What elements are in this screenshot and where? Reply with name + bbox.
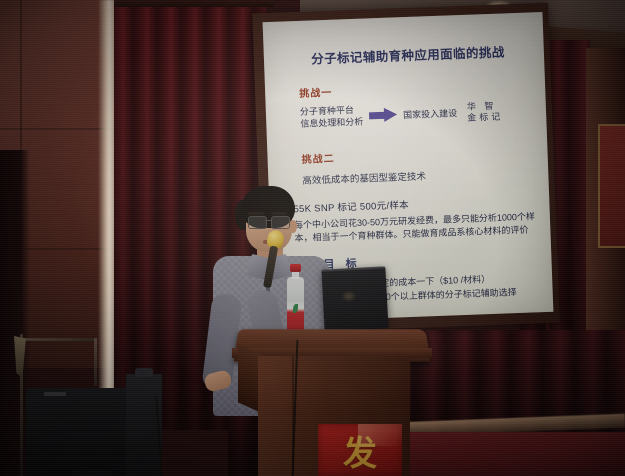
bottle-cap xyxy=(290,264,301,272)
eyeglasses-icon xyxy=(247,216,291,227)
placard-glare xyxy=(358,424,402,446)
speaker-top-unit xyxy=(135,368,153,377)
red-carpet-floor xyxy=(400,432,625,476)
podium-placard: 发 xyxy=(318,424,402,476)
flow-source-text: 分子育种平台 信息处理和分析 xyxy=(300,105,364,130)
presenter-eyebrow xyxy=(271,212,287,215)
monitor-stand xyxy=(72,470,112,476)
flow-diagram: 分子育种平台 信息处理和分析 国家投入建设 华 智 金标记 xyxy=(300,98,531,129)
equipment-stand-arm xyxy=(20,338,96,341)
flow-middle-text: 国家投入建设 xyxy=(403,106,457,121)
slide-title: 分子标记辅助育种应用面临的挑战 xyxy=(286,40,531,68)
equipment-stand-arm xyxy=(94,338,97,386)
presentation-photo: 分子标记辅助育种应用面临的挑战 挑战一 分子育种平台 信息处理和分析 国家投入建… xyxy=(0,0,625,476)
challenge-one-heading: 挑战一 xyxy=(299,84,333,100)
right-arrow-icon xyxy=(369,107,398,123)
challenge-two-subtitle: 高效低成本的基因型鉴定技术 xyxy=(302,168,426,187)
curtain-rod xyxy=(114,0,274,7)
monitor-brand-label xyxy=(44,392,66,396)
presenter-eyebrow xyxy=(248,212,264,215)
challenge-two-heading: 挑战二 xyxy=(301,150,335,166)
framed-picture xyxy=(598,124,625,248)
laptop-computer[interactable] xyxy=(321,266,388,331)
flow-target-text: 华 智 金标记 xyxy=(467,100,504,123)
laptop-logo-icon xyxy=(341,290,358,303)
